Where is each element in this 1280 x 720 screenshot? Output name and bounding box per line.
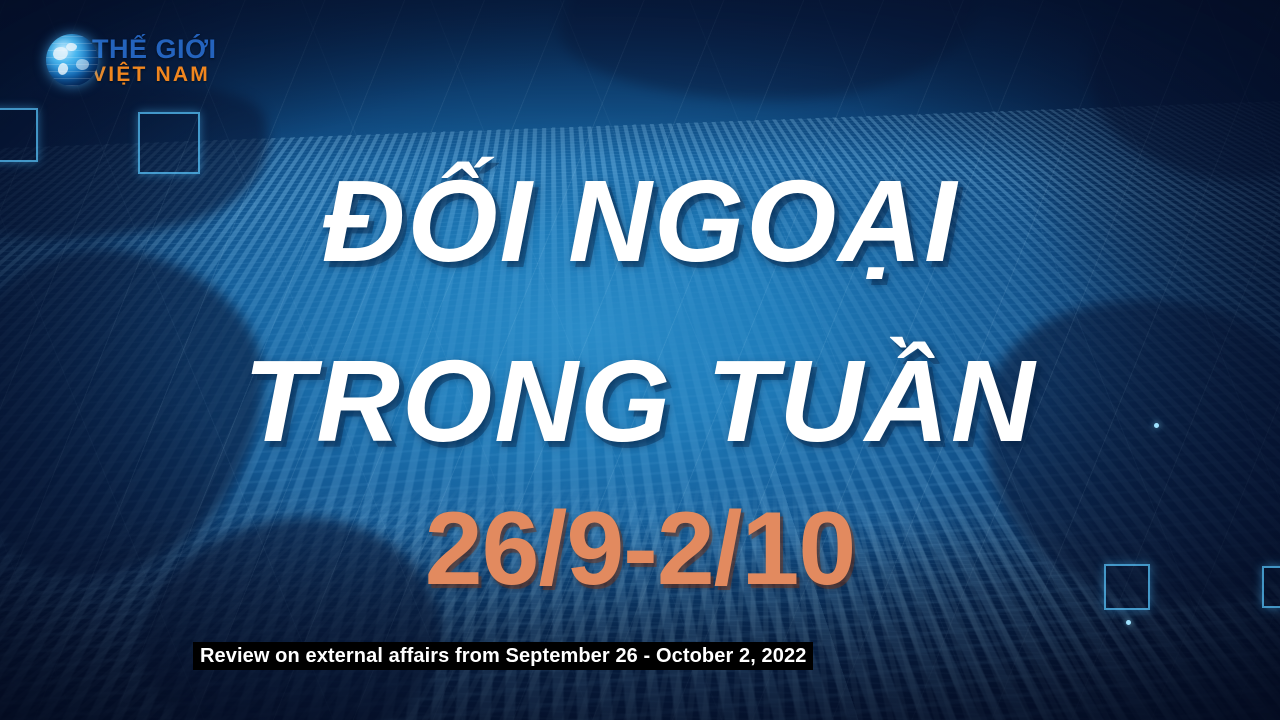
logo-line-2: VIỆT NAM	[92, 64, 217, 85]
globe-gridlines	[46, 34, 98, 86]
date-range-text: 26/9-2/10	[0, 497, 1280, 601]
caption-bar: Review on external affairs from Septembe…	[193, 642, 813, 670]
hud-square-frame-icon	[0, 108, 38, 162]
title-line-2: TRONG TUẦN	[0, 343, 1280, 459]
logo-wordmark: THẾ GIỚI VIỆT NAM	[92, 36, 217, 85]
globe-icon	[46, 34, 98, 86]
channel-logo: THẾ GIỚI VIỆT NAM	[46, 34, 217, 86]
caption-text: Review on external affairs from Septembe…	[200, 645, 806, 668]
video-title-card: THẾ GIỚI VIỆT NAM ĐỐI NGOẠI TRONG TUẦN 2…	[0, 0, 1280, 720]
hud-dot-icon	[1126, 620, 1131, 625]
logo-line-1: THẾ GIỚI	[92, 36, 217, 63]
title-line-1: ĐỐI NGOẠI	[0, 163, 1280, 279]
